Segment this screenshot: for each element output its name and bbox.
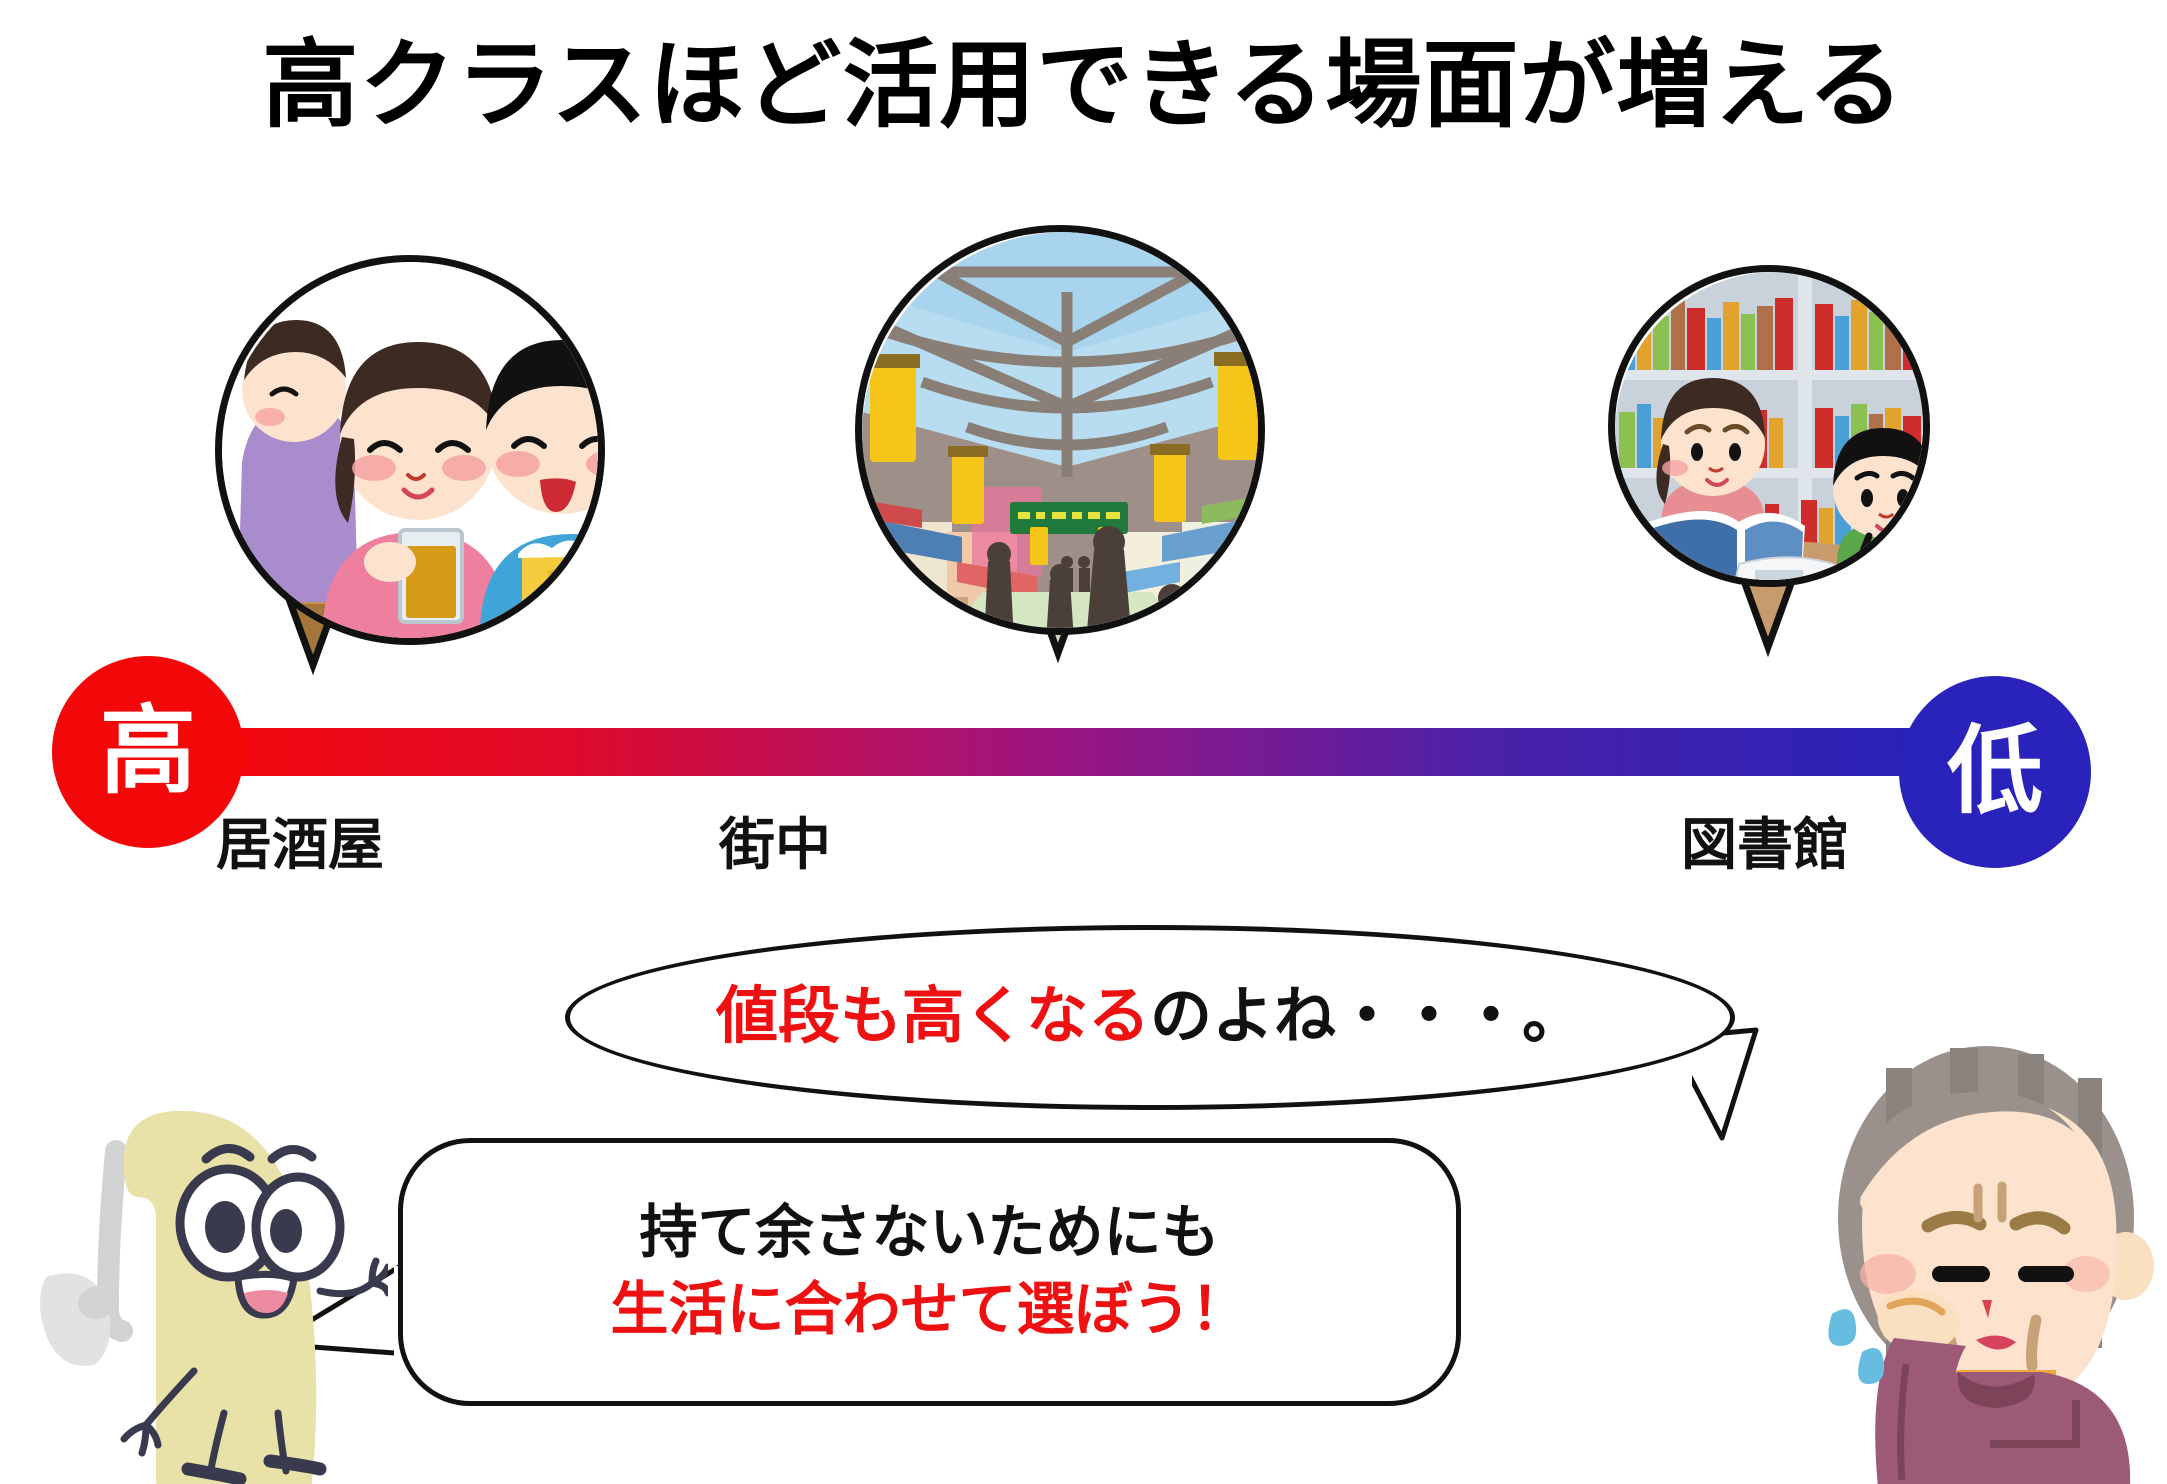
gradient-scale-bar <box>160 728 2000 776</box>
photo-izakaya <box>215 255 605 645</box>
photo-library <box>1608 265 1930 587</box>
bubble-advice-line2: 生活に合わせて選ぼう！ <box>610 1272 1248 1349</box>
hearing-aid-mascot <box>28 1055 388 1484</box>
axis-label-library: 図書館 <box>1625 800 1905 881</box>
axis-label-street: 街中 <box>635 800 915 881</box>
photo-street <box>855 225 1265 635</box>
page-title: 高クラスほど活用できる場面が増える <box>0 34 2167 138</box>
scale-endcap-high-label: 高 <box>100 704 196 800</box>
title-highlight: 活用できる場面 <box>842 34 1519 138</box>
scale-endcap-high: 高 <box>52 656 244 848</box>
title-text-before: 高クラスほど <box>262 32 842 139</box>
scale-endcap-low-label: 低 <box>1947 724 2043 820</box>
bubble-advice-line1: 持て余さないためにも <box>639 1195 1219 1272</box>
speech-bubble-advice: 持て余さないためにも 生活に合わせて選ぼう！ <box>398 1138 1461 1406</box>
bubble-price-emphasis: 値段も高くなる <box>716 982 1150 1051</box>
title-text-after: が増える <box>1520 32 1905 139</box>
title-highlight-text: 活用できる場面 <box>842 32 1519 139</box>
bubble-price-rest: のよね・・・。 <box>1150 982 1584 1051</box>
speech-bubble-price: 値段も高くなるのよね・・・。 <box>565 925 1735 1110</box>
scale-endcap-low: 低 <box>1899 676 2091 868</box>
worried-elderly-woman <box>1790 1038 2167 1484</box>
slide-canvas: 高クラスほど活用できる場面が増える <box>0 0 2167 1484</box>
